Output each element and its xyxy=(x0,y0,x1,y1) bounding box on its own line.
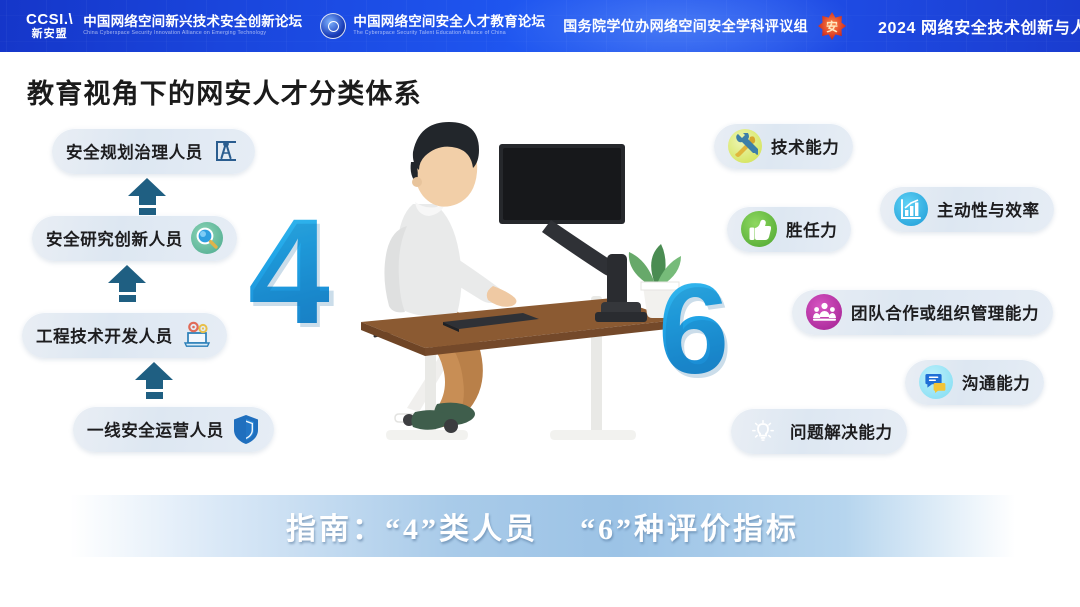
header-bar: CCSI.\ 新安盟 中国网络空间新兴技术安全创新论坛 China Cybers… xyxy=(0,0,1080,52)
compass-divider-icon xyxy=(211,136,241,166)
alliance-seal-inner xyxy=(328,21,339,32)
org-1: 中国网络空间新兴技术安全创新论坛 China Cyberspace Securi… xyxy=(83,15,302,37)
alliance-seal-icon xyxy=(320,13,346,39)
wrench-screwdriver-icon xyxy=(728,129,762,163)
big-number-4: 4 xyxy=(248,196,329,346)
org-2-cn: 中国网络空间安全人才教育论坛 xyxy=(353,15,545,29)
bar-chart-icon xyxy=(894,192,928,226)
people-group-icon xyxy=(806,294,842,330)
laptop-gears-icon xyxy=(181,320,213,350)
capability-pill-teamwork-management-label: 团队合作或组织管理能力 xyxy=(851,300,1039,324)
capability-pill-technical[interactable]: 技术能力 xyxy=(714,123,853,169)
ccsi-logo: CCSI.\ 新安盟 xyxy=(26,12,73,40)
flow-arrow-2 xyxy=(108,265,146,302)
capability-pill-initiative-efficiency-label: 主动性与效率 xyxy=(937,197,1040,221)
capability-pill-competency[interactable]: 胜任力 xyxy=(727,206,851,252)
capability-pill-communication[interactable]: 沟通能力 xyxy=(905,359,1044,405)
bottom-banner: 指南：“4”类人员 “6”种评价指标 xyxy=(70,495,1015,557)
capability-pill-problem-solving[interactable]: 问题解决能力 xyxy=(731,408,907,454)
role-pill-engineering-development[interactable]: 工程技术开发人员 xyxy=(22,312,227,358)
capability-pill-teamwork-management[interactable]: 团队合作或组织管理能力 xyxy=(792,289,1053,335)
banner-text-part1: 指南：“4”类人员 xyxy=(286,504,538,548)
security-badge-icon: 安 xyxy=(818,12,846,40)
monitor-shape xyxy=(499,144,647,322)
slide-root: CCSI.\ 新安盟 中国网络空间新兴技术安全创新论坛 China Cybers… xyxy=(0,0,1080,607)
role-pill-planning-governance-label: 安全规划治理人员 xyxy=(66,139,203,163)
capability-pill-initiative-efficiency[interactable]: 主动性与效率 xyxy=(880,186,1054,232)
capability-pill-technical-label: 技术能力 xyxy=(771,134,839,158)
org-2-en: The Cyberspace Security Talent Education… xyxy=(353,31,545,36)
capability-pill-communication-label: 沟通能力 xyxy=(962,370,1030,394)
chat-bubbles-icon xyxy=(919,365,953,399)
org-2: 中国网络空间安全人才教育论坛 The Cyberspace Security T… xyxy=(353,15,545,37)
ccsi-logo-mark: CCSI.\ xyxy=(26,12,73,27)
person-at-standing-desk-illustration xyxy=(355,108,685,456)
role-pill-engineering-development-label: 工程技术开发人员 xyxy=(36,323,173,347)
gov-org-label: 国务院学位办网络空间安全学科评议组 xyxy=(563,16,808,36)
role-pill-research-innovation[interactable]: 安全研究创新人员 xyxy=(32,215,237,261)
magnifier-icon xyxy=(191,222,223,254)
badge-char: 安 xyxy=(818,12,846,40)
org-1-en: China Cyberspace Security Innovation All… xyxy=(83,31,302,36)
role-pill-frontline-operations[interactable]: 一线安全运营人员 xyxy=(73,406,274,452)
person-body-shape xyxy=(384,202,516,316)
thumbs-up-icon xyxy=(741,211,777,247)
forum-title: 2024 网络安全技术创新与人才教育高峰论坛 xyxy=(878,14,1080,38)
shield-icon xyxy=(232,413,260,445)
role-pill-research-innovation-label: 安全研究创新人员 xyxy=(46,226,183,250)
page-title: 教育视角下的网安人才分类体系 xyxy=(27,72,422,111)
lightbulb-icon xyxy=(745,413,781,449)
flow-arrow-3 xyxy=(128,178,166,215)
role-pill-planning-governance[interactable]: 安全规划治理人员 xyxy=(52,128,255,174)
role-pill-frontline-operations-label: 一线安全运营人员 xyxy=(87,417,224,441)
capability-pill-competency-label: 胜任力 xyxy=(786,217,837,241)
banner-text-part2: “6”种评价指标 xyxy=(580,504,799,548)
ccsi-logo-sub: 新安盟 xyxy=(32,29,68,40)
org-1-cn: 中国网络空间新兴技术安全创新论坛 xyxy=(83,15,302,29)
flow-arrow-1 xyxy=(135,362,173,399)
big-number-6: 6 xyxy=(658,266,727,394)
capability-pill-problem-solving-label: 问题解决能力 xyxy=(790,419,893,443)
person-head-shape xyxy=(411,122,479,207)
